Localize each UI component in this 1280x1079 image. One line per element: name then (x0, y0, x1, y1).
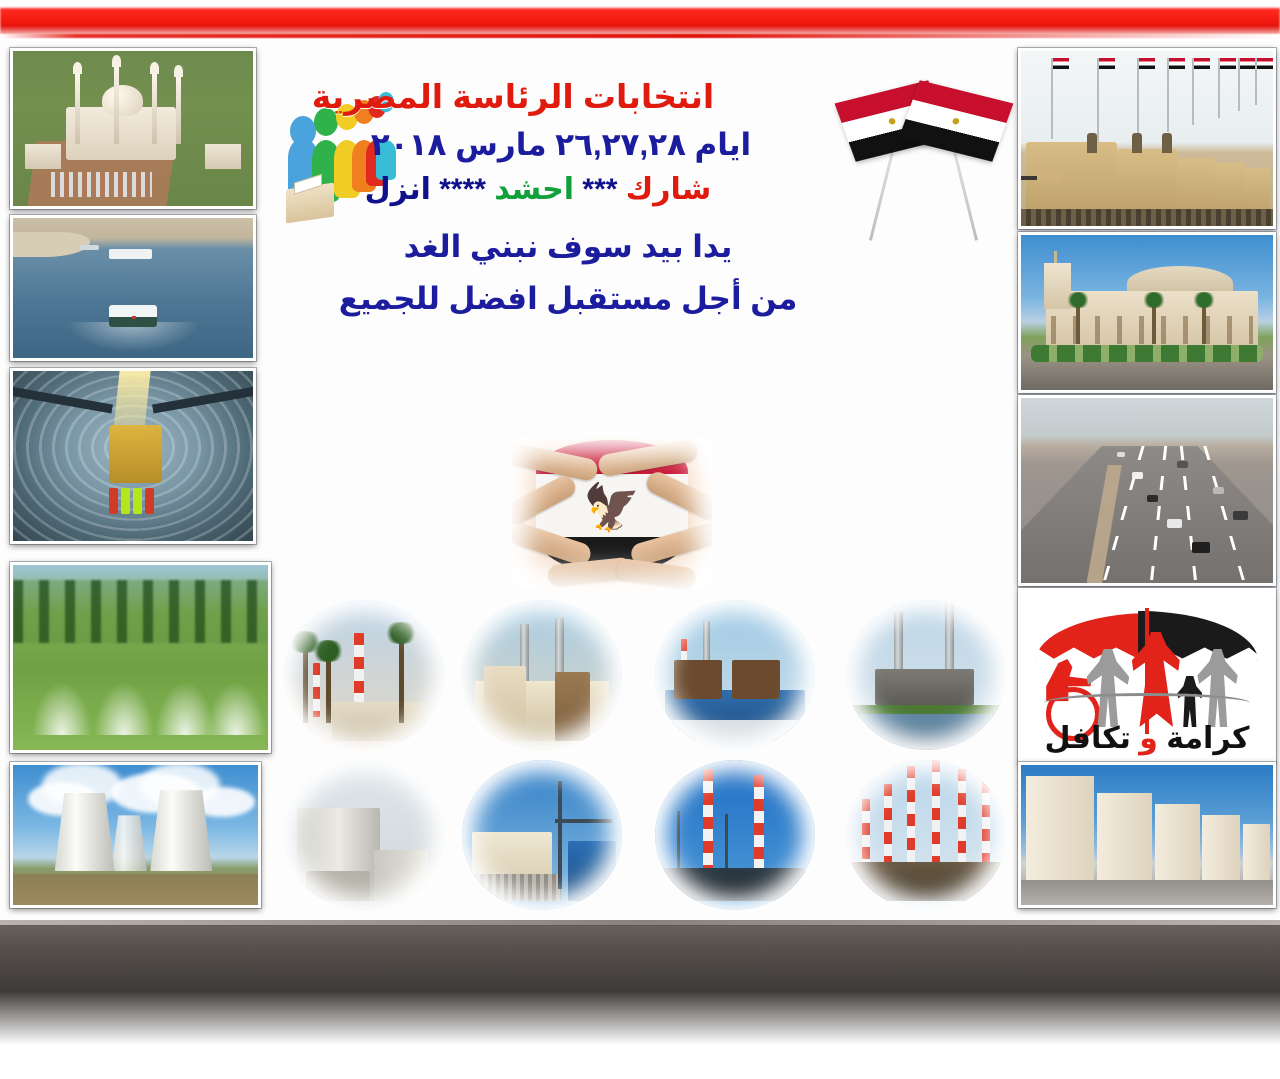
cta-word-share: شارك (626, 173, 712, 206)
plant-multi-stacks (846, 760, 1006, 910)
poster-text-block: انتخابات الرئاسة المصرية ايام ٢٦,٢٧,٢٨ م… (258, 78, 878, 318)
plant-riverside-stacks (846, 600, 1006, 750)
takaful-logo-text: كرامة و تكافل (1021, 721, 1273, 756)
slogan-line-2: من أجل مستقبل افضل للجميع (258, 281, 878, 318)
photo-cooling-towers (10, 762, 261, 908)
cta-stars-2: *** (582, 173, 617, 206)
interlocked-hands-egyptian-flag-icon: 🦅 (512, 437, 712, 589)
cta-word-godown: انزل (365, 173, 431, 206)
takaful-word-2: كرامة (1166, 722, 1249, 755)
floor-reflection (0, 925, 1280, 1045)
takaful-word-connector: و (1139, 722, 1158, 755)
plant-palms-chimney (284, 600, 444, 750)
plant-blue-units (655, 600, 815, 750)
photo-tunnel (10, 368, 256, 544)
photo-cathedral (1018, 232, 1276, 393)
call-to-action: شارك *** احشد **** انزل (258, 172, 878, 207)
eagle-emblem-icon: ● (885, 113, 899, 129)
photo-social-housing (1018, 762, 1276, 908)
logo-takaful-karama: كرامة و تكافل (1018, 588, 1276, 764)
plant-grey-boiler (284, 760, 444, 910)
election-dates: ايام ٢٦,٢٧,٢٨ مارس ٢٠١٨ (258, 127, 878, 164)
plant-twin-white-stacks (462, 600, 622, 750)
plant-two-red-stacks (655, 760, 815, 910)
photo-mosque (10, 48, 256, 209)
page-title: انتخابات الرئاسة المصرية (258, 78, 878, 117)
cta-word-mobilize: احشد (494, 173, 574, 206)
takaful-word-1: تكافل (1045, 722, 1131, 755)
photo-military-parade (1018, 48, 1276, 229)
election-poster: كرامة و تكافل ● ● انتخابات ا (0, 0, 1280, 1079)
photo-suez-canal (10, 215, 256, 361)
plant-construction-blue (462, 760, 622, 910)
top-red-bar-thin (0, 34, 1280, 38)
photo-highway (1018, 395, 1276, 586)
slogan-line-1: يدا بيد سوف نبني الغد (258, 229, 878, 266)
eagle-emblem-icon: ● (949, 113, 963, 129)
photo-irrigation (10, 562, 271, 753)
cta-stars-1: **** (439, 173, 486, 206)
